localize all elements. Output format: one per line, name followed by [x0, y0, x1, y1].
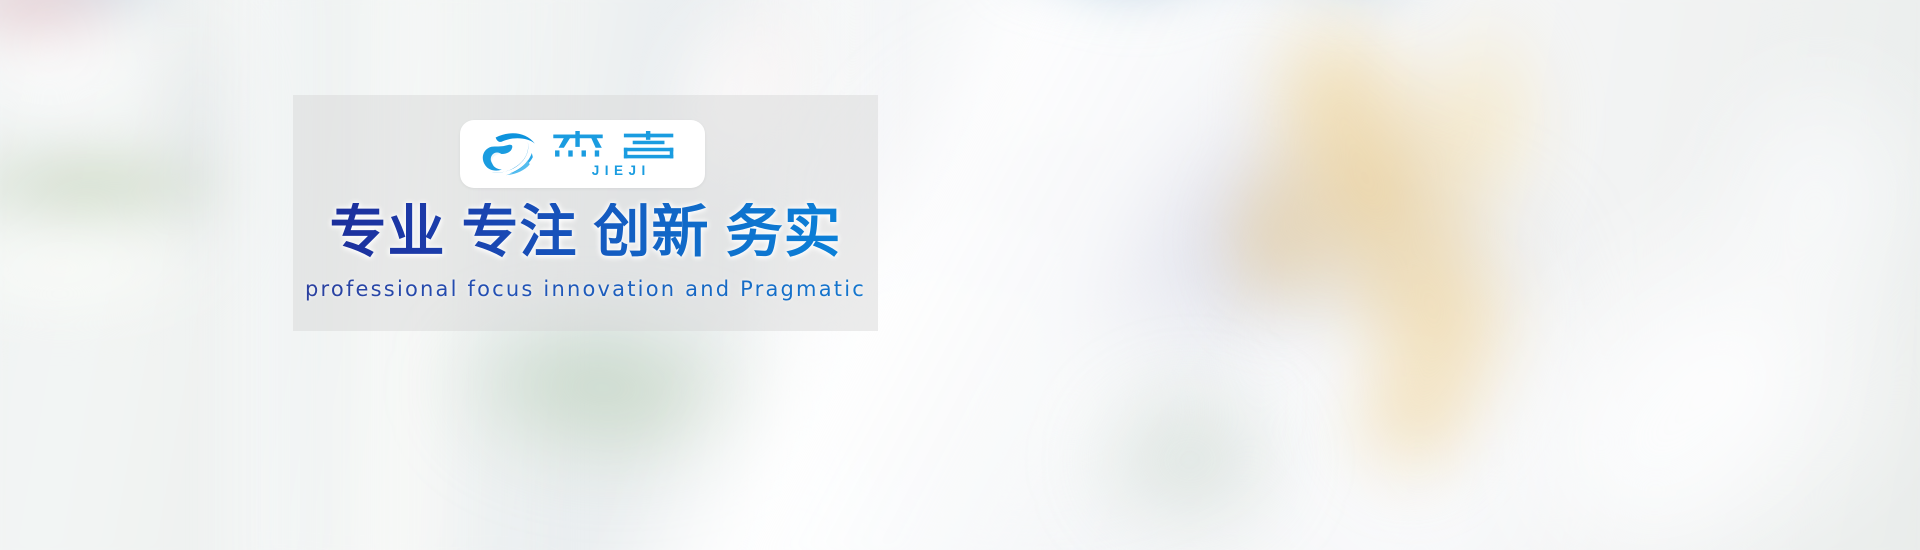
hero-banner: JIEJI 专业专注创新务实 professional focus innova… [0, 0, 1920, 550]
brand-wordmark: JIEJI [548, 131, 689, 178]
headline-word-3: 创新 [594, 199, 710, 265]
background-white-coat [0, 0, 1920, 550]
brand-cn-characters [548, 131, 689, 161]
headline-word-2: 专注 [462, 199, 578, 265]
headline-word-1: 专业 [330, 199, 446, 265]
content-overlay-panel: JIEJI 专业专注创新务实 professional focus innova… [293, 95, 878, 331]
jieji-swoosh-icon [476, 128, 538, 180]
brand-logo[interactable]: JIEJI [460, 120, 705, 188]
headline-english-subtitle: professional focus innovation and Pragma… [293, 277, 878, 301]
headline-word-4: 务实 [726, 199, 842, 265]
brand-en-text: JIEJI [586, 164, 651, 178]
headline-chinese: 专业专注创新务实 [293, 203, 878, 263]
